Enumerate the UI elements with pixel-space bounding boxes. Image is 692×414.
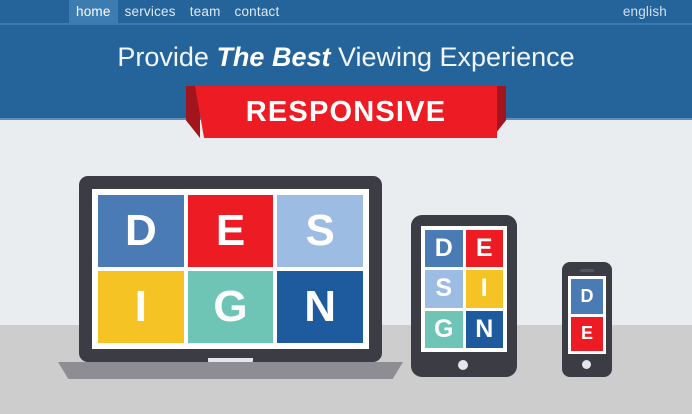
- laptop-design-grid: DESIGN: [92, 189, 369, 349]
- tablet-cell-d: D: [425, 230, 463, 267]
- laptop-frame: DESIGN: [79, 176, 382, 362]
- laptop-cell-s: S: [277, 195, 363, 267]
- laptop-device: DESIGN: [79, 176, 382, 376]
- laptop-cell-d: D: [98, 195, 184, 267]
- device-illustration-group: DESIGN DESIGN DE: [0, 0, 692, 414]
- tablet-cell-i: I: [466, 270, 504, 307]
- tablet-cell-s: S: [425, 270, 463, 307]
- laptop-cell-g: G: [188, 271, 274, 343]
- responsive-design-banner: homeservicesteamcontact english Provide …: [0, 0, 692, 414]
- phone-home-button-icon: [582, 360, 591, 369]
- tablet-cell-e: E: [466, 230, 504, 267]
- laptop-base: [58, 362, 403, 379]
- tablet-frame: DESIGN: [411, 215, 517, 377]
- phone-cell-e: E: [571, 317, 603, 352]
- laptop-cell-n: N: [277, 271, 363, 343]
- laptop-cell-e: E: [188, 195, 274, 267]
- laptop-cell-i: I: [98, 271, 184, 343]
- phone-speaker-icon: [580, 269, 594, 272]
- tablet-home-button-icon: [458, 360, 468, 370]
- tablet-cell-n: N: [466, 311, 504, 348]
- phone-frame: DE: [562, 262, 612, 377]
- laptop-screen: DESIGN: [92, 189, 369, 349]
- tablet-screen: DESIGN: [421, 226, 507, 352]
- phone-device: DE: [562, 262, 612, 377]
- tablet-device: DESIGN: [411, 215, 517, 377]
- phone-cell-d: D: [571, 279, 603, 314]
- phone-design-grid: DE: [568, 276, 606, 354]
- tablet-cell-g: G: [425, 311, 463, 348]
- phone-screen: DE: [568, 276, 606, 354]
- tablet-design-grid: DESIGN: [421, 226, 507, 352]
